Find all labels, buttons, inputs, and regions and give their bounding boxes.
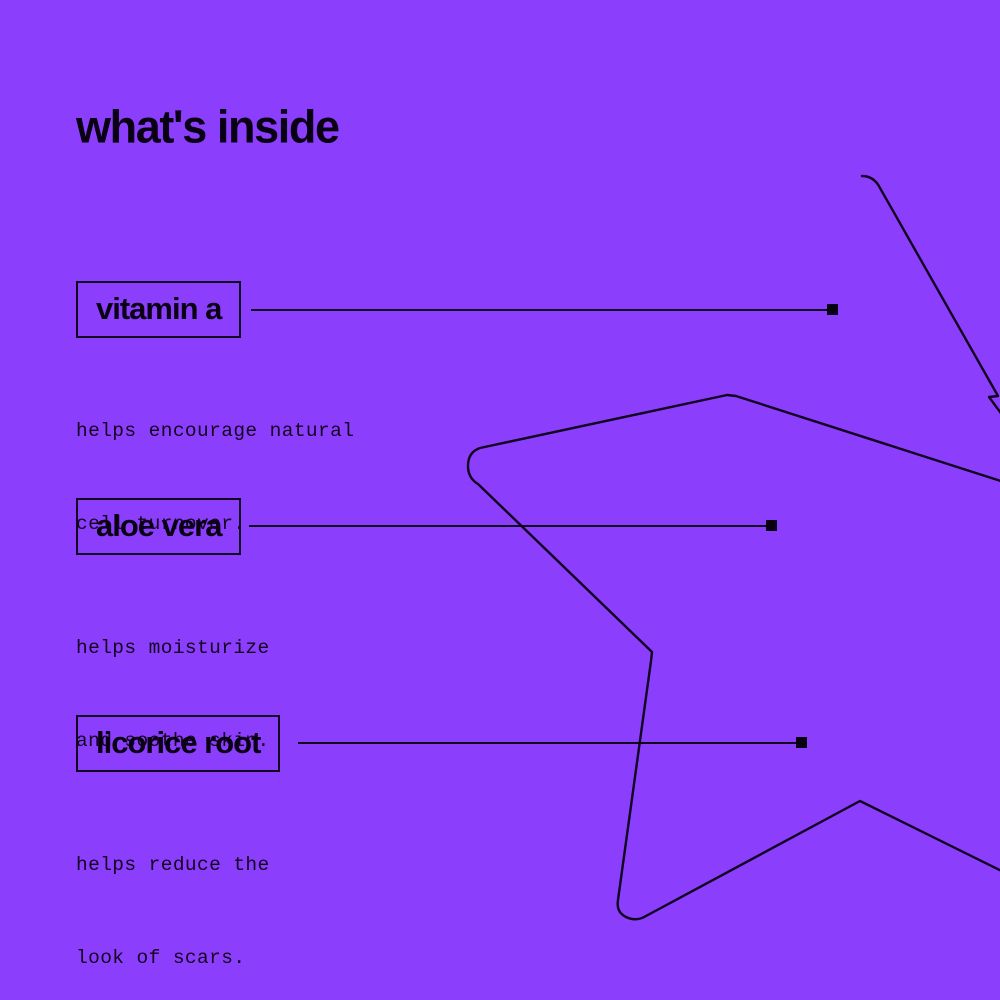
page-title: what's inside bbox=[76, 101, 339, 152]
ingredient-label-licorice-root: licorice root bbox=[96, 727, 260, 758]
leader-endpoint-licorice-root bbox=[796, 737, 807, 748]
leader-endpoint-vitamin-a bbox=[827, 304, 838, 315]
ingredient-block-licorice-root: licorice root helps reduce the look of s… bbox=[76, 715, 280, 1000]
ingredient-label-aloe-vera: aloe vera bbox=[96, 510, 221, 541]
ingredient-label-box-aloe-vera[interactable]: aloe vera bbox=[76, 498, 241, 555]
ingredient-label-vitamin-a: vitamin a bbox=[96, 293, 221, 324]
star-path bbox=[468, 176, 1000, 919]
ingredient-label-box-vitamin-a[interactable]: vitamin a bbox=[76, 281, 241, 338]
poster-canvas: what's inside vitamin a helps encourage … bbox=[0, 0, 1000, 1000]
description-line: helps reduce the bbox=[76, 850, 280, 881]
leader-line-licorice-root bbox=[298, 742, 807, 744]
description-line: helps moisturize bbox=[76, 633, 270, 664]
leader-line-aloe-vera bbox=[249, 525, 777, 527]
leader-line-vitamin-a bbox=[251, 309, 838, 311]
ingredient-label-box-licorice-root[interactable]: licorice root bbox=[76, 715, 280, 772]
description-line: helps encourage natural bbox=[76, 416, 354, 447]
description-line: look of scars. bbox=[76, 943, 280, 974]
leader-endpoint-aloe-vera bbox=[766, 520, 777, 531]
ingredient-description-licorice-root: helps reduce the look of scars. bbox=[76, 788, 280, 1000]
